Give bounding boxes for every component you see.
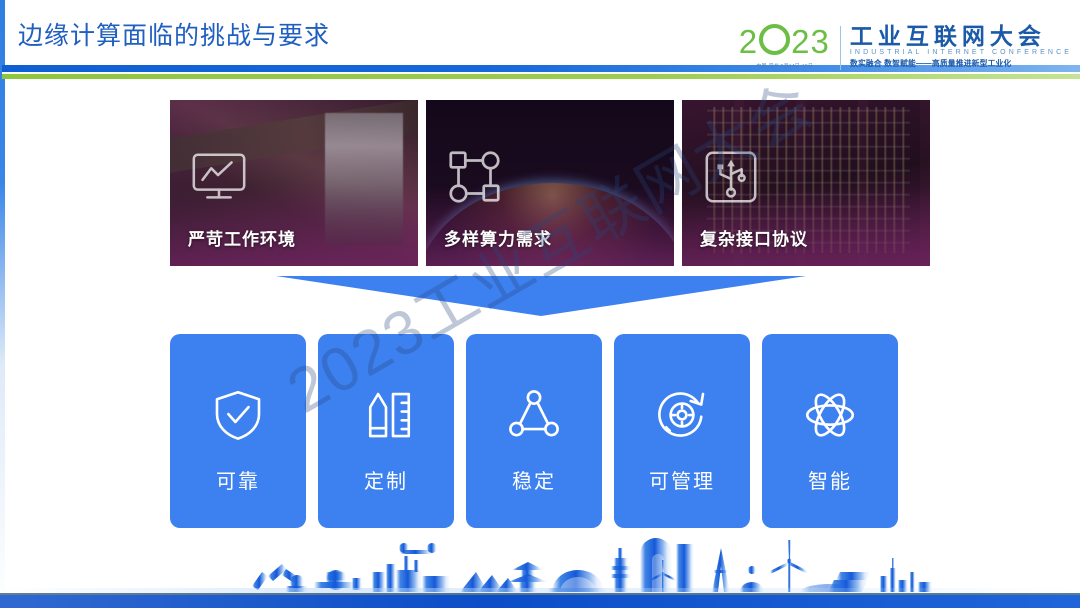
node-network-icon: [444, 146, 506, 208]
challenge-card-harsh-environment[interactable]: 严苛工作环境: [170, 100, 418, 266]
challenge-card-diverse-compute[interactable]: 多样算力需求: [426, 100, 674, 266]
footer-skyline-decoration: [0, 536, 1080, 608]
shield-check-icon: [210, 387, 266, 443]
challenge-card-complex-protocols[interactable]: 复杂接口协议: [682, 100, 930, 266]
logo-text-block: 工业互联网大会 INDUSTRIAL INTERNET CONFERENCE 数…: [841, 24, 1072, 69]
logo-year-block: 223 中国·常州 9月14日-15日: [739, 24, 840, 69]
requirement-card-intelligent[interactable]: 智能: [762, 334, 898, 528]
conference-logo: 223 中国·常州 9月14日-15日 工业互联网大会 INDUSTRIAL I…: [739, 24, 1072, 86]
challenge-card-label: 严苛工作环境: [188, 225, 296, 250]
challenge-card-label: 多样算力需求: [444, 225, 552, 250]
gear-refresh-icon: [654, 387, 710, 443]
left-edge-accent: [0, 0, 5, 608]
monitor-chart-icon: [188, 146, 250, 208]
down-arrow-icon: [276, 276, 806, 316]
logo-year-ring-icon: [759, 24, 790, 55]
logo-subtitle-cn: 数实融合 数智赋能——高质量推进新型工业化: [850, 58, 1065, 69]
requirement-card-manageable[interactable]: 可管理: [614, 334, 750, 528]
triangle-nodes-icon: [506, 387, 562, 443]
logo-year-digit-2: 2: [791, 23, 810, 60]
pencil-ruler-icon: [358, 387, 414, 443]
logo-year-digit-3: 3: [811, 23, 830, 60]
requirement-card-label: 定制: [364, 465, 408, 494]
requirement-card-label: 可靠: [216, 465, 260, 494]
logo-year-digit-1: 2: [739, 23, 758, 60]
requirement-card-row: 可靠 定制: [170, 334, 930, 528]
logo-name-en: INDUSTRIAL INTERNET CONFERENCE: [850, 48, 1072, 58]
logo-date-line: 中国·常州 9月14日-15日: [756, 62, 813, 69]
atom-icon: [802, 387, 858, 443]
challenge-card-label: 复杂接口协议: [700, 225, 808, 250]
page-title: 边缘计算面临的挑战与要求: [18, 16, 330, 52]
requirement-card-label: 可管理: [649, 465, 715, 494]
challenge-card-row: 严苛工作环境 多样算力需求: [170, 100, 930, 266]
requirement-card-reliable[interactable]: 可靠: [170, 334, 306, 528]
requirement-card-stable[interactable]: 稳定: [466, 334, 602, 528]
requirement-card-label: 智能: [808, 465, 852, 494]
requirement-card-customizable[interactable]: 定制: [318, 334, 454, 528]
logo-year: 223: [739, 24, 830, 58]
usb-port-icon: [700, 146, 762, 208]
slide-canvas: 边缘计算面临的挑战与要求 223 中国·常州 9月14日-15日 工业互联网大会…: [0, 0, 1080, 608]
logo-name-cn: 工业互联网大会: [850, 24, 1072, 48]
requirement-card-label: 稳定: [512, 465, 556, 494]
